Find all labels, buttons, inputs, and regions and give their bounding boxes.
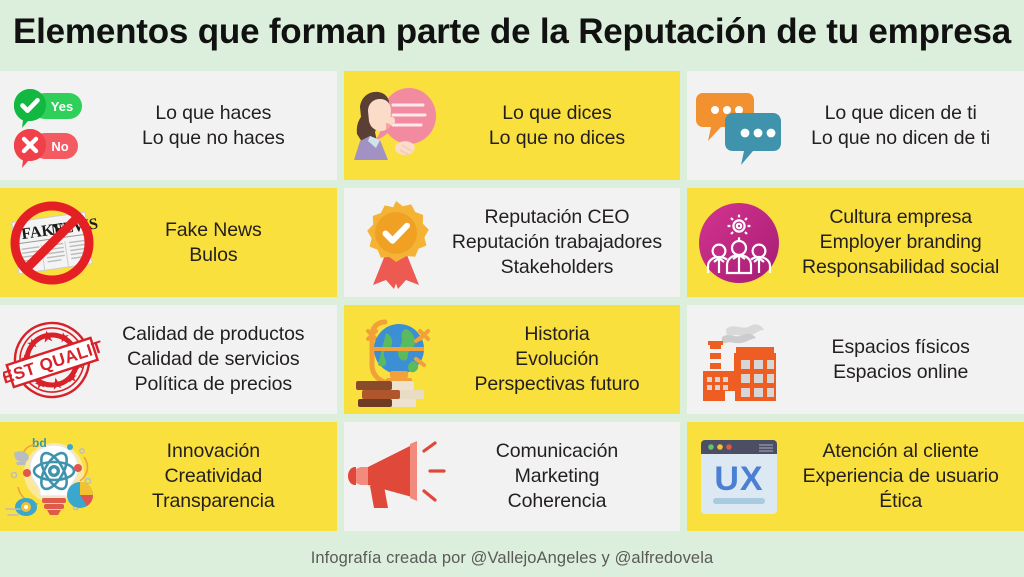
cell-text: Lo que dicen de ti Lo que no dicen de ti (791, 101, 1024, 151)
cell-line: Stakeholders (448, 255, 667, 280)
cell-text: Innovación Creatividad Transparencia (104, 439, 337, 514)
cell-reputacion-ceo: Reputación CEO Reputación trabajadores S… (344, 188, 681, 297)
cell-line: Employer branding (791, 230, 1010, 255)
cell-text: Lo que haces Lo que no haces (104, 101, 337, 151)
cells-grid: Yes No Lo que haces Lo qu (0, 71, 1024, 531)
cell-line: Calidad de productos (104, 322, 323, 347)
cell-lo-que-dices: Lo que dices Lo que no dices (344, 71, 681, 180)
cell-text: Espacios físicos Espacios online (791, 335, 1024, 385)
cell-line: Historia (448, 322, 667, 347)
cell-line: Espacios físicos (791, 335, 1010, 360)
cell-line: Experiencia de usuario (791, 464, 1010, 489)
cell-line: Marketing (448, 464, 667, 489)
lightbulb-atom-idea-icon: bd (0, 422, 104, 531)
cell-historia: Historia Evolución Perspectivas futuro (344, 305, 681, 414)
cell-fake-news: FAKE NEWS Fake News Bulos (0, 188, 337, 297)
cell-line: Política de precios (104, 372, 323, 397)
cell-comunicacion: Comunicación Marketing Coherencia (344, 422, 681, 531)
cell-line: Lo que no dices (448, 126, 667, 151)
cell-line: Transparencia (104, 489, 323, 514)
cell-cultura-empresa: Cultura empresa Employer branding Respon… (687, 188, 1024, 297)
cell-text: Historia Evolución Perspectivas futuro (448, 322, 681, 397)
globe-books-icon (344, 305, 448, 414)
person-speaking-bubble-icon (344, 71, 448, 180)
cell-line: Lo que no dicen de ti (791, 126, 1010, 151)
cell-line: Lo que no haces (104, 126, 323, 151)
cell-line: Innovación (104, 439, 323, 464)
cell-espacios: Espacios físicos Espacios online (687, 305, 1024, 414)
cell-text: Atención al cliente Experiencia de usuar… (791, 439, 1024, 514)
svg-text:Yes: Yes (51, 99, 73, 114)
best-quality-stamp-icon: BEST QUALITY (0, 305, 104, 414)
page-title: Elementos que forman parte de la Reputac… (0, 8, 1024, 56)
cell-calidad: BEST QUALITY Calidad de productos Calida… (0, 305, 337, 414)
cell-line: Coherencia (448, 489, 667, 514)
svg-text:UX: UX (715, 460, 764, 498)
infographic-poster: Elementos que forman parte de la Reputac… (0, 0, 1024, 577)
cell-line: Lo que haces (104, 101, 323, 126)
cell-line: Reputación CEO (448, 205, 667, 230)
cell-lo-que-haces: Yes No Lo que haces Lo qu (0, 71, 337, 180)
cell-line: Fake News (104, 218, 323, 243)
cell-line: Lo que dicen de ti (791, 101, 1010, 126)
cell-text: Calidad de productos Calidad de servicio… (104, 322, 337, 397)
cell-line: Bulos (104, 243, 323, 268)
factory-icon (687, 305, 791, 414)
svg-text:bd: bd (32, 436, 47, 450)
yes-no-badges-icon: Yes No (0, 71, 104, 180)
cell-line: Responsabilidad social (791, 255, 1010, 280)
cell-line: Reputación trabajadores (448, 230, 667, 255)
cell-line: Perspectivas futuro (448, 372, 667, 397)
cell-text: Lo que dices Lo que no dices (448, 101, 681, 151)
award-rosette-icon (344, 188, 448, 297)
cell-line: Comunicación (448, 439, 667, 464)
cell-line: Evolución (448, 347, 667, 372)
cell-line: Cultura empresa (791, 205, 1010, 230)
footer-credit: Infografía creada por @VallejoAngeles y … (0, 549, 1024, 568)
cell-text: Comunicación Marketing Coherencia (448, 439, 681, 514)
ux-browser-window-icon: UX (687, 422, 791, 531)
team-gear-circle-icon (687, 188, 791, 297)
cell-line: Atención al cliente (791, 439, 1010, 464)
cell-innovacion: bd (0, 422, 337, 531)
cell-line: Espacios online (791, 360, 1010, 385)
fake-news-prohibited-icon: FAKE NEWS (0, 188, 104, 297)
cell-text: Reputación CEO Reputación trabajadores S… (448, 205, 681, 280)
cell-lo-que-dicen-de-ti: Lo que dicen de ti Lo que no dicen de ti (687, 71, 1024, 180)
cell-text: Fake News Bulos (104, 218, 337, 268)
cell-atencion-cliente: UX Atención al cliente Experiencia de us… (687, 422, 1024, 531)
svg-text:No: No (51, 139, 68, 154)
cell-line: Lo que dices (448, 101, 667, 126)
cell-line: Creatividad (104, 464, 323, 489)
megaphone-icon (344, 422, 448, 531)
two-speech-bubbles-icon (687, 71, 791, 180)
cell-text: Cultura empresa Employer branding Respon… (791, 205, 1024, 280)
cell-line: Calidad de servicios (104, 347, 323, 372)
cell-line: Ética (791, 489, 1010, 514)
